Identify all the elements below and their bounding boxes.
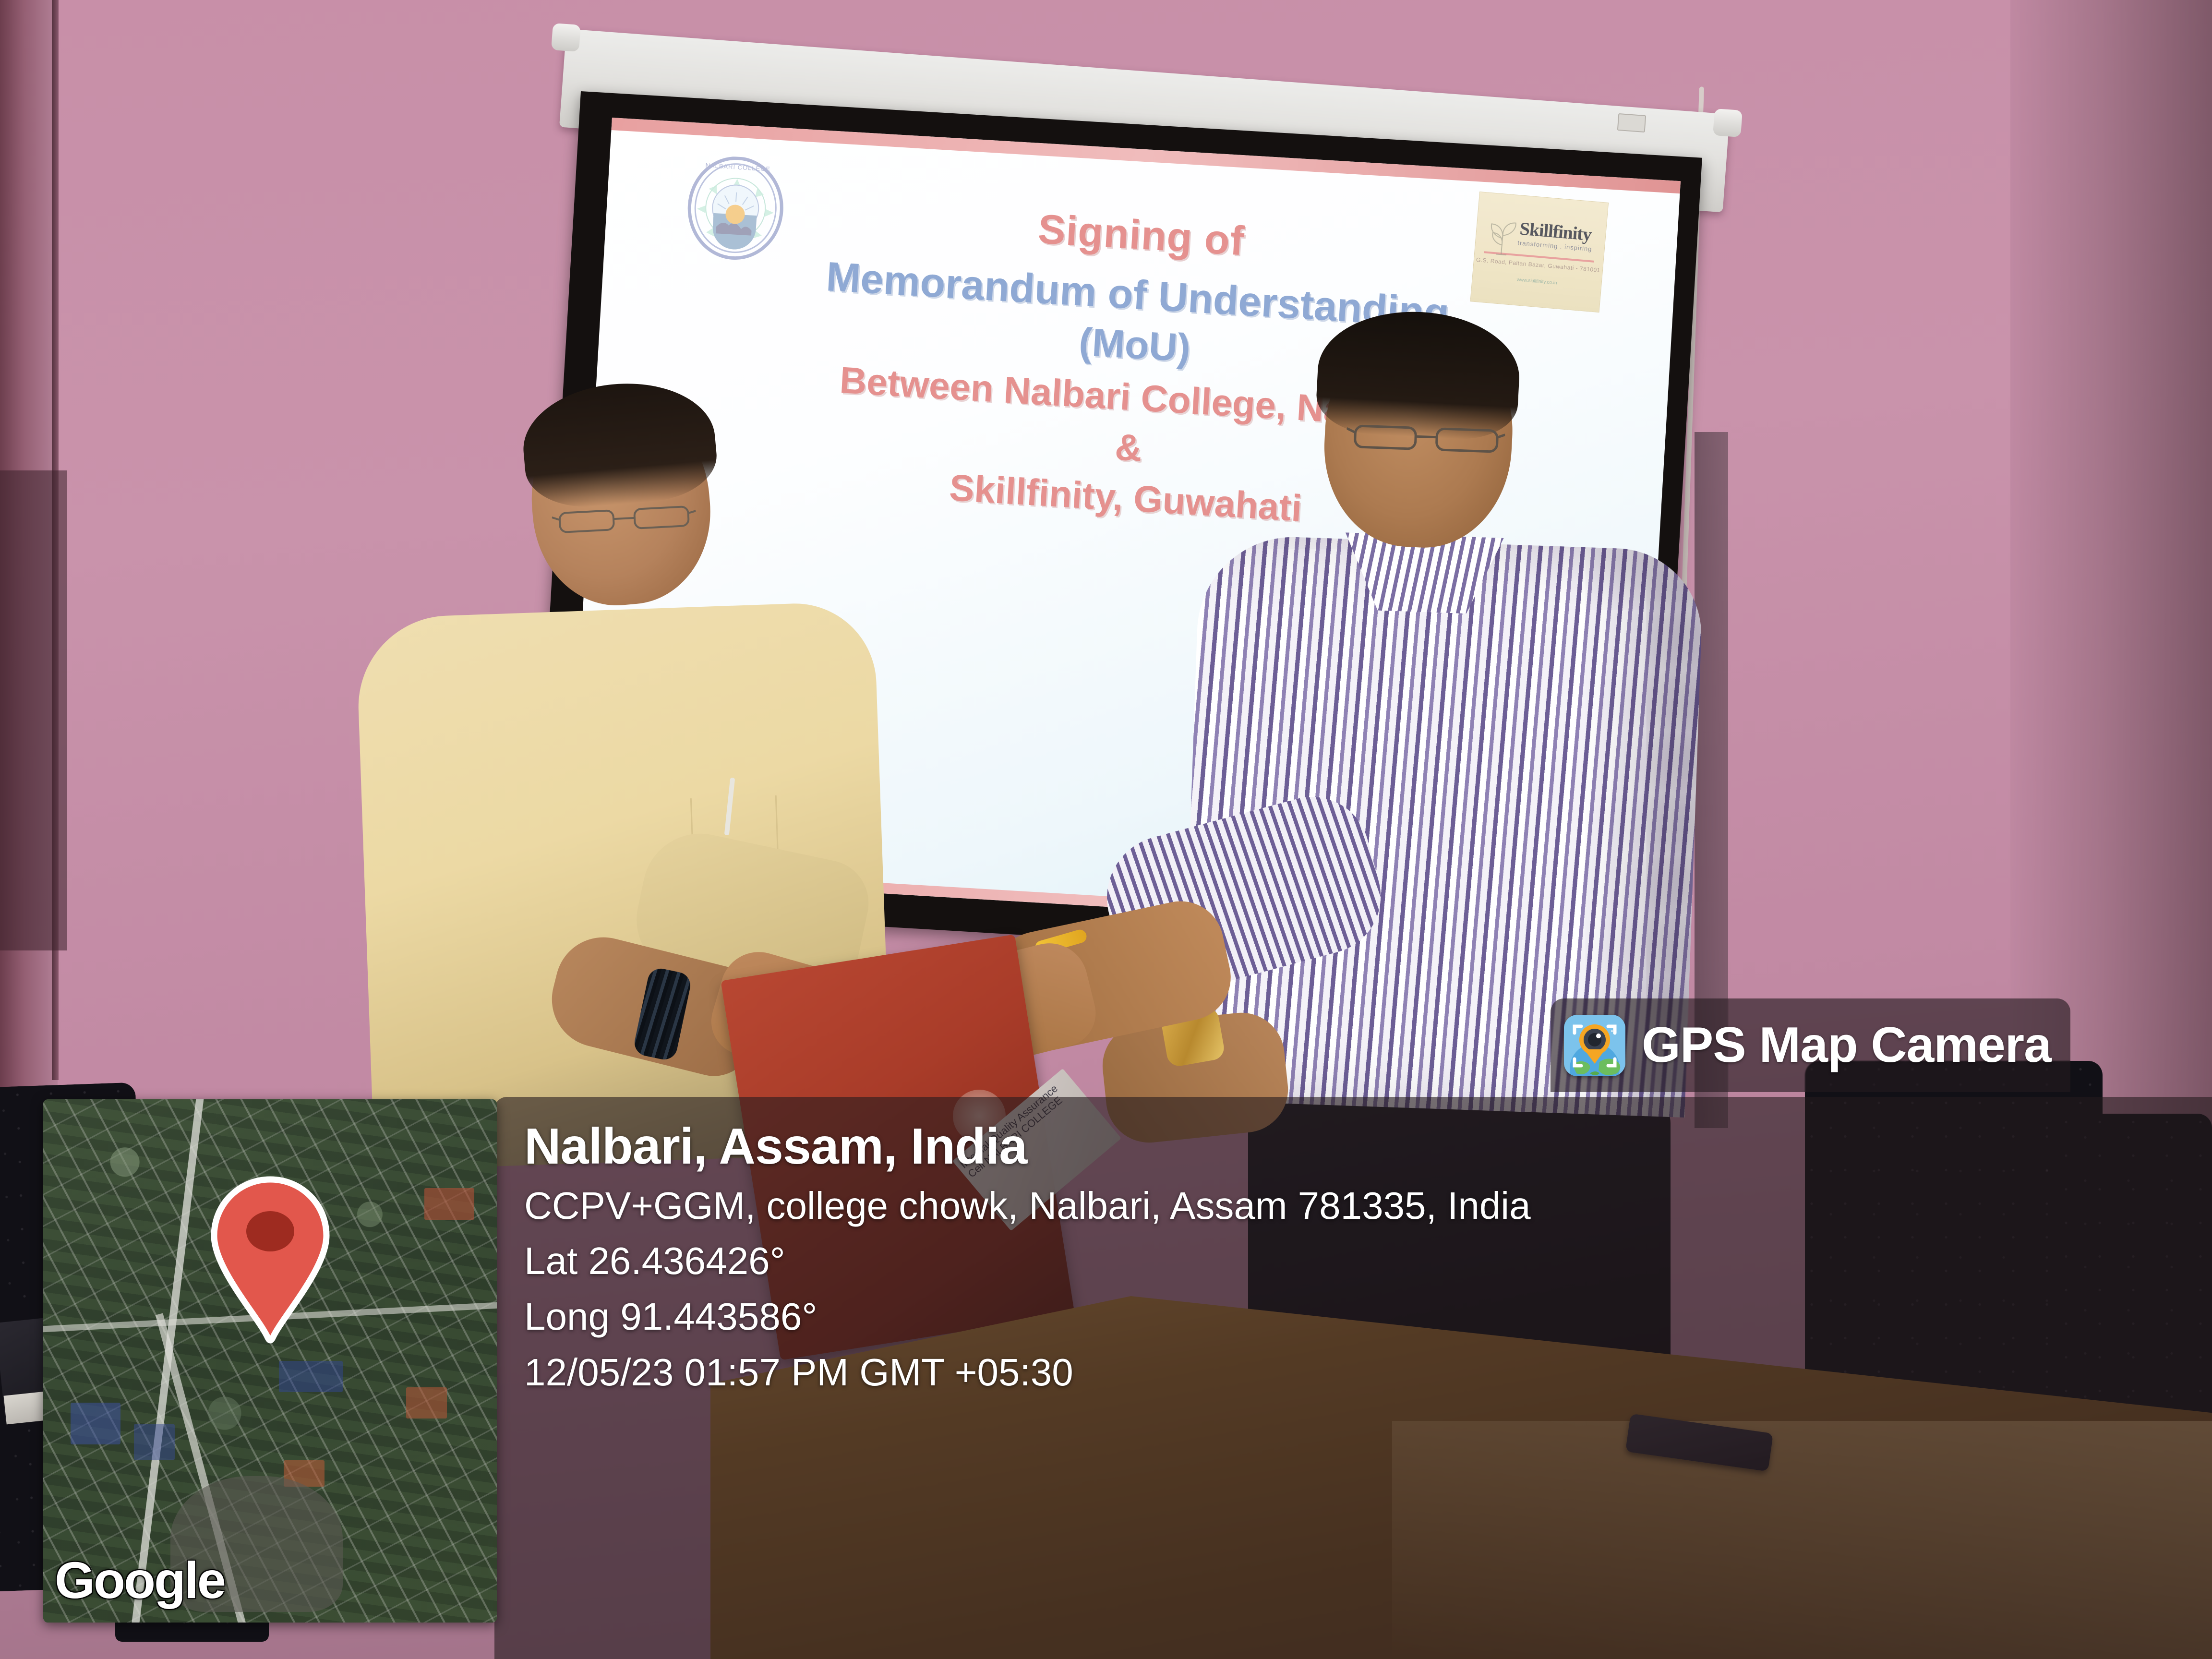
gps-address-line: CCPV+GGM, college chowk, Nalbari, Assam … [524,1184,2212,1227]
screen-casing-cap-right [1713,108,1743,137]
map-building [424,1188,474,1219]
slide-conjunction: & [1114,425,1143,470]
map-building [134,1424,175,1460]
gps-city-line: Nalbari, Assam, India [524,1119,2212,1174]
gps-timestamp: 12/05/23 01:57 PM GMT +05:30 [524,1350,2212,1395]
screen-brand-tag [1617,113,1646,132]
wall-dark-panel [0,470,67,950]
map-building [406,1387,447,1419]
slide-title: Signing of [1037,205,1246,265]
photo-canvas: NALBARI COLLEGE Skillfinity transforming… [0,0,2212,1659]
map-pin-icon [205,1173,335,1346]
slide-party-two: Skillfinity, Guwahati [948,466,1303,530]
slide-abbreviation: (MoU) [1078,320,1191,372]
gps-latitude: Lat 26.436426° [524,1239,2212,1283]
map-building [279,1361,342,1392]
gps-info-panel: Nalbari, Assam, India CCPV+GGM, college … [494,1097,2212,1659]
screen-casing-cap-left [551,23,581,52]
gps-map-camera-title: GPS Map Camera [1642,1017,2051,1074]
gps-map-camera-icon [1564,1015,1625,1076]
google-logo: Google [55,1550,225,1610]
gps-longitude: Long 91.443586° [524,1295,2212,1339]
gps-map-camera-badge: GPS Map Camera [1551,998,2070,1092]
wall-right-shadow [2010,0,2212,1152]
eyeglasses-icon [1346,420,1505,457]
map-building [71,1403,120,1444]
map-thumbnail[interactable]: Google [43,1099,497,1623]
